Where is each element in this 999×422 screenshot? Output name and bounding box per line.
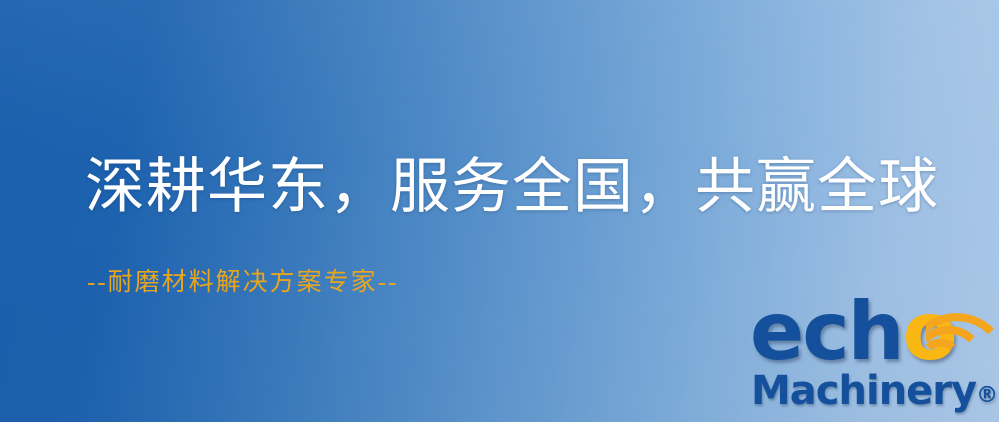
logo-subword-text: Machinery [751,368,976,414]
logo-subword: Machinery® [751,370,998,417]
banner-headline: 深耕华东，服务全国，共赢全球 [85,150,939,224]
logo-wordmark-prefix: ech [750,285,903,378]
logo-wordmark: echo [750,292,956,372]
signal-waves-icon [926,290,996,362]
banner-subtitle: --耐磨材料解决方案专家-- [87,266,398,300]
echo-machinery-logo[interactable]: echo Machinery® [745,296,995,422]
registered-trademark-icon: ® [976,383,998,408]
promotional-banner: 深耕华东，服务全国，共赢全球 --耐磨材料解决方案专家-- echo Machi… [0,0,999,422]
